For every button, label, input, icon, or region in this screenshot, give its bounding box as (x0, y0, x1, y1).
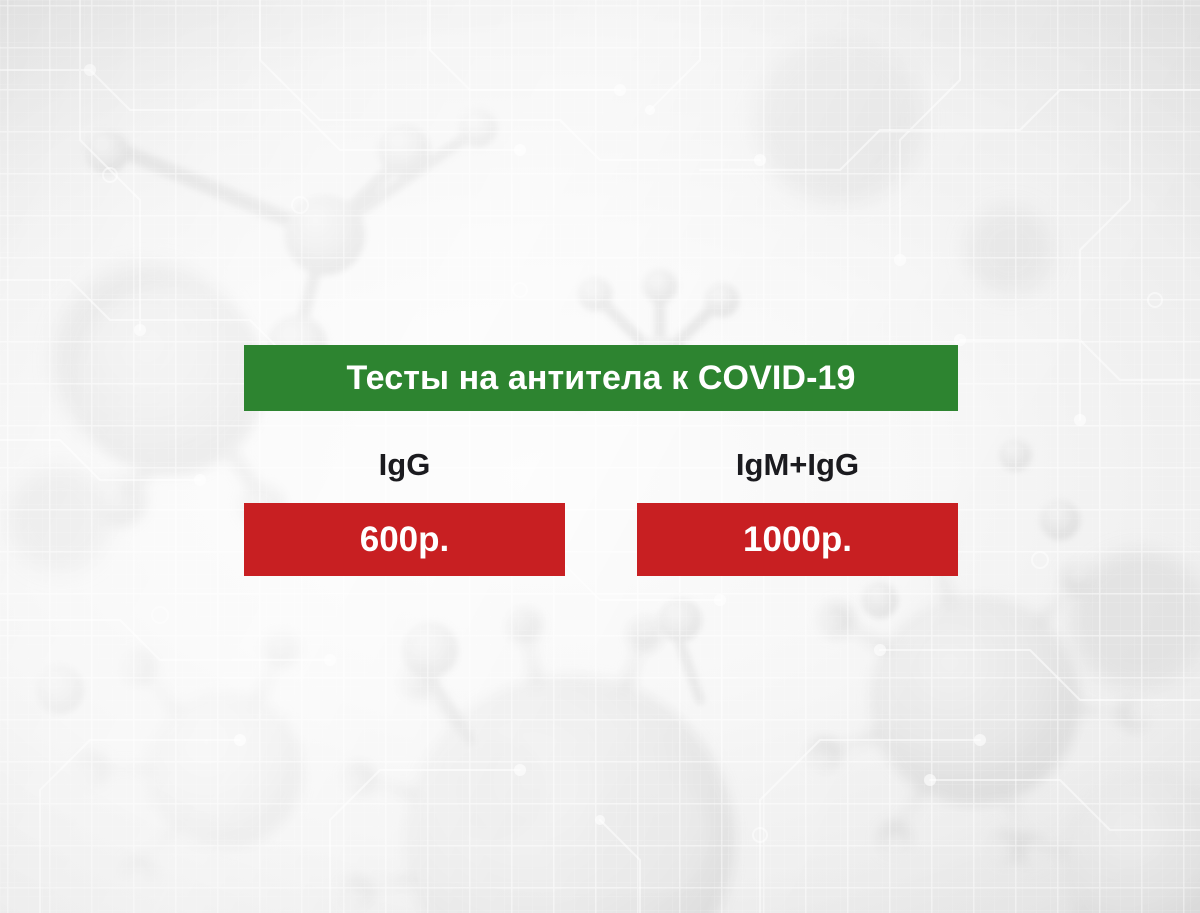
offer-card-igg: IgG 600р. (244, 411, 565, 576)
poster-content: Тесты на антитела к COVID-19 IgG 600р. I… (244, 345, 958, 576)
page-title: Тесты на антитела к COVID-19 (346, 361, 855, 395)
offer-card-igm-igg: IgM+IgG 1000р. (637, 411, 958, 576)
price-box-igg[interactable]: 600р. (244, 503, 565, 576)
price-value-igm-igg: 1000р. (743, 522, 852, 557)
price-value-igg: 600р. (360, 522, 450, 557)
offer-label-igm-igg: IgM+IgG (736, 449, 859, 480)
price-box-igm-igg[interactable]: 1000р. (637, 503, 958, 576)
covid-antibody-test-poster: Тесты на антитела к COVID-19 IgG 600р. I… (0, 0, 1200, 913)
offer-label-igg: IgG (379, 449, 431, 480)
offer-list: IgG 600р. IgM+IgG 1000р. (244, 411, 958, 576)
title-banner: Тесты на антитела к COVID-19 (244, 345, 958, 411)
